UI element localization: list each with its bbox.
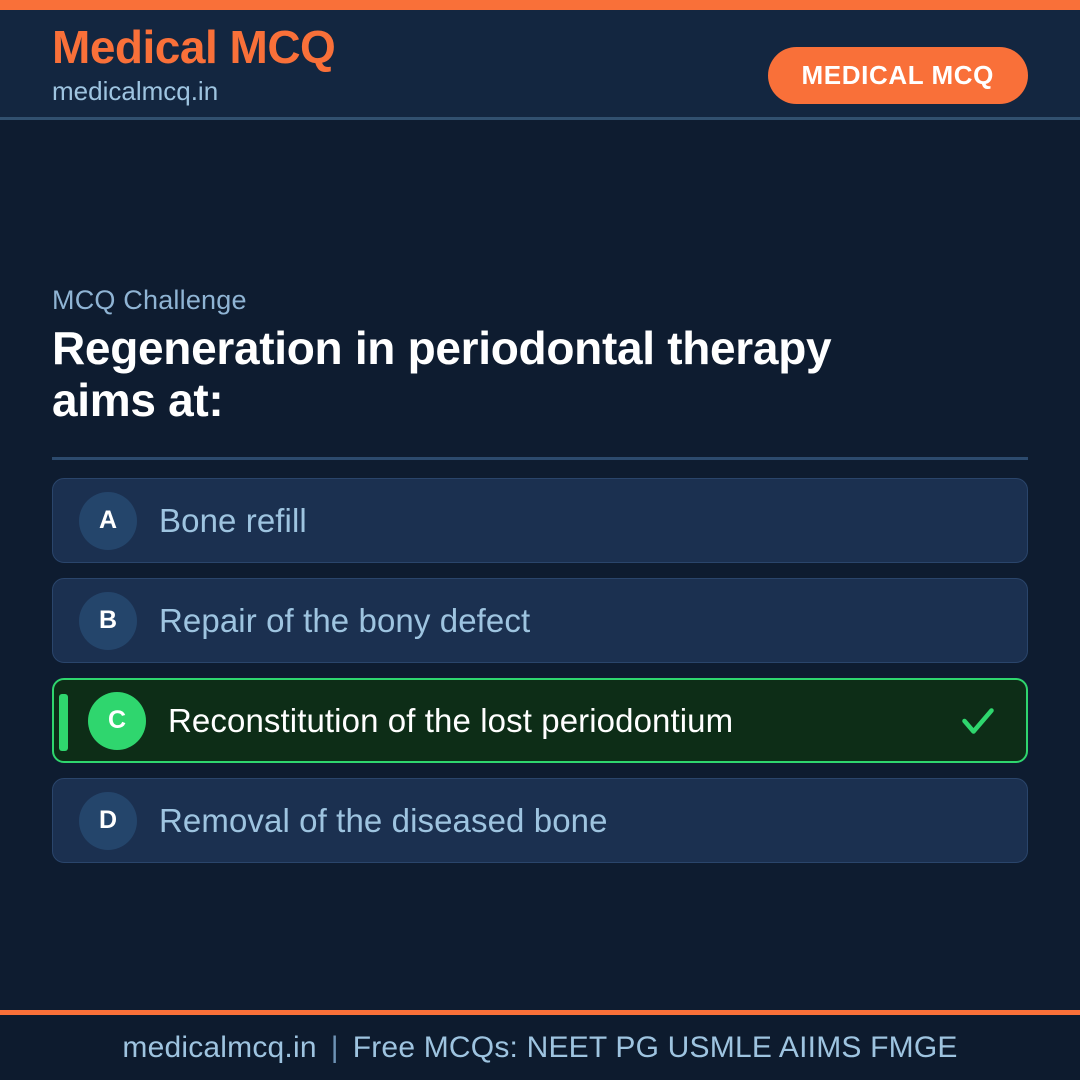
correct-accent-bar xyxy=(59,694,68,751)
option-row-a[interactable]: A Bone refill xyxy=(52,478,1028,563)
top-accent-strip xyxy=(0,0,1080,10)
option-letter-badge: A xyxy=(79,492,137,550)
page-header: Medical MCQ medicalmcq.in MEDICAL MCQ xyxy=(0,10,1080,120)
option-label: Removal of the diseased bone xyxy=(159,802,608,840)
option-letter-badge: D xyxy=(79,792,137,850)
option-letter-badge: B xyxy=(79,592,137,650)
footer-site[interactable]: medicalmcq.in xyxy=(122,1031,316,1064)
option-letter-badge: C xyxy=(88,692,146,750)
eyebrow-label: MCQ Challenge xyxy=(52,285,1028,316)
brand-url: medicalmcq.in xyxy=(52,75,335,109)
footer-separator: | xyxy=(317,1031,353,1064)
option-label: Repair of the bony defect xyxy=(159,602,530,640)
section-divider xyxy=(52,457,1028,460)
header-badge[interactable]: MEDICAL MCQ xyxy=(768,47,1028,104)
page-footer: medicalmcq.in|Free MCQs: NEET PG USMLE A… xyxy=(0,1010,1080,1080)
brand-title: Medical MCQ xyxy=(52,22,335,73)
brand-block: Medical MCQ medicalmcq.in xyxy=(52,22,335,108)
check-icon xyxy=(960,703,996,739)
page-title: Regeneration in periodontal therapy aims… xyxy=(52,322,902,427)
option-label: Bone refill xyxy=(159,502,307,540)
options-list: A Bone refill B Repair of the bony defec… xyxy=(52,478,1028,878)
option-row-c[interactable]: C Reconstitution of the lost periodontiu… xyxy=(52,678,1028,763)
option-row-d[interactable]: D Removal of the diseased bone xyxy=(52,778,1028,863)
option-row-b[interactable]: B Repair of the bony defect xyxy=(52,578,1028,663)
footer-text: medicalmcq.in|Free MCQs: NEET PG USMLE A… xyxy=(122,1031,957,1065)
question-block: MCQ Challenge Regeneration in periodonta… xyxy=(52,285,1028,460)
option-label: Reconstitution of the lost periodontium xyxy=(168,702,733,740)
footer-exams: Free MCQs: NEET PG USMLE AIIMS FMGE xyxy=(353,1031,958,1064)
